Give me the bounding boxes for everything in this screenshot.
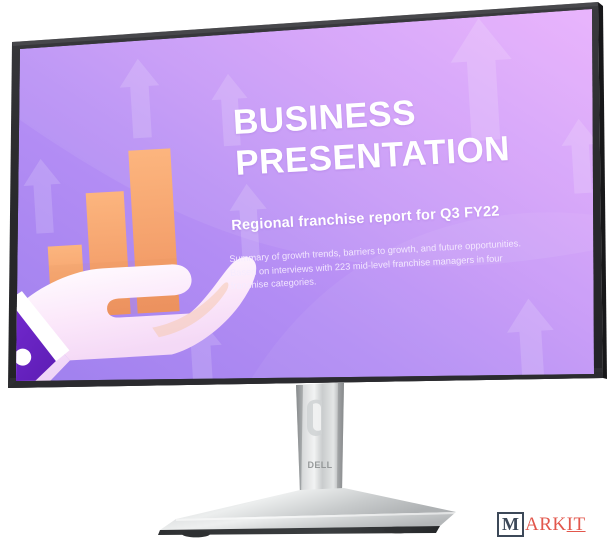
stand-foot-left xyxy=(182,531,210,538)
screenshot-stage: DELL BUSINESS PRESENTATION Regional fran… xyxy=(0,0,609,550)
markit-watermark: M ARK IT xyxy=(497,512,586,537)
dell-logo-text: DELL xyxy=(307,460,332,470)
monitor-stand: DELL xyxy=(158,382,456,537)
watermark-tail-text: IT xyxy=(567,514,586,536)
monitor-graphic: DELL xyxy=(0,0,609,550)
watermark-mid-text: ARK xyxy=(525,514,567,536)
dell-monitor: DELL xyxy=(0,0,609,430)
watermark-boxed-letter: M xyxy=(497,512,524,537)
stand-neck xyxy=(296,382,344,494)
stand-foot-right xyxy=(384,527,412,534)
monitor-screen xyxy=(0,9,602,402)
